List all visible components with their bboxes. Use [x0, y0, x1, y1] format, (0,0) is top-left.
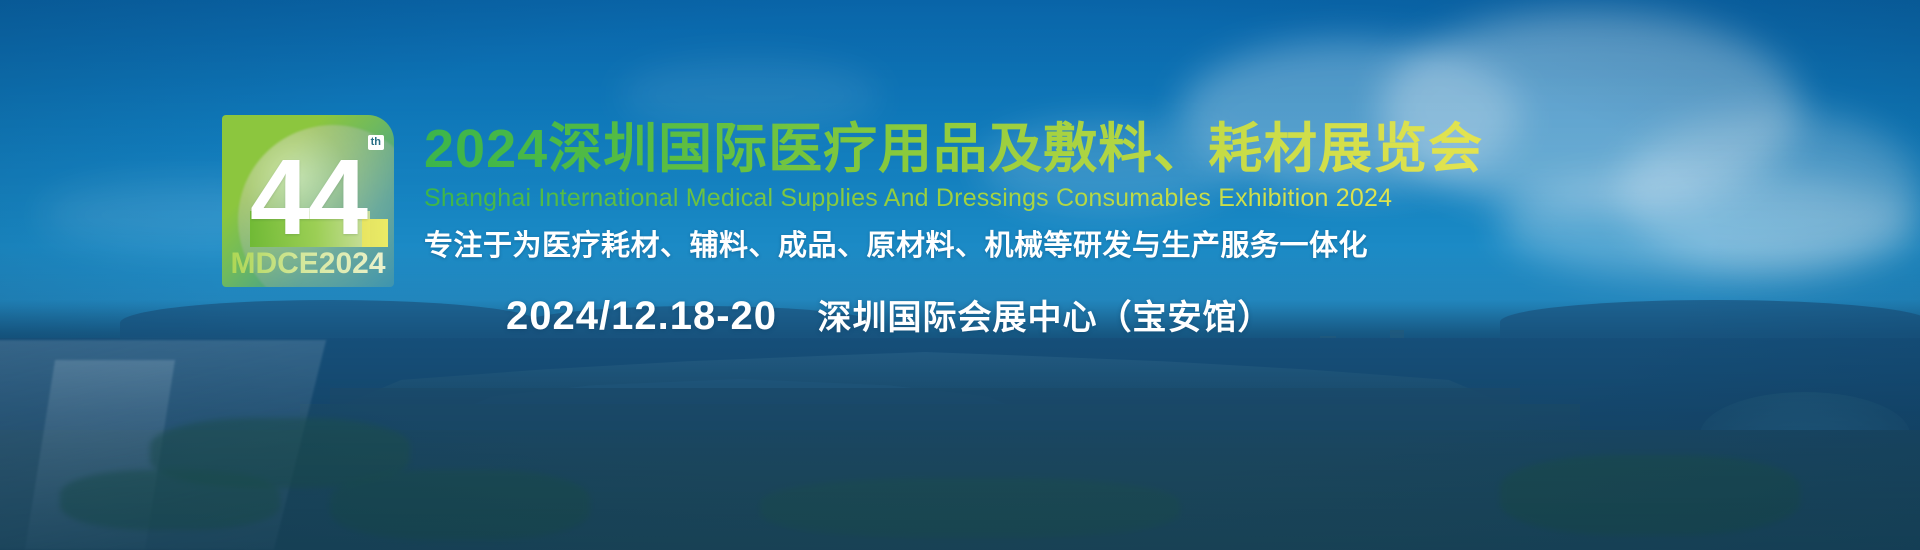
event-logo: 44 th MDCE2024 [222, 115, 394, 287]
event-date: 2024/12.18-20 [506, 294, 777, 338]
event-title-english: Shanghai International Medical Supplies … [424, 184, 1904, 213]
logo-wordmark: MDCE2024 [222, 249, 394, 279]
event-banner: 44 th MDCE2024 2024深圳国际医疗用品及敷料、耗材展览会 Sha… [0, 0, 1920, 550]
event-date-venue: 2024/12.18-20 深圳国际会展中心（宝安馆） [506, 290, 1904, 339]
event-title-chinese: 2024深圳国际医疗用品及敷料、耗材展览会 [424, 120, 1904, 178]
event-tagline: 专注于为医疗耗材、辅料、成品、原材料、机械等研发与生产服务一体化 [424, 229, 1904, 264]
logo-ordinal-suffix: th [368, 135, 384, 150]
event-venue: 深圳国际会展中心（宝安馆） [817, 299, 1272, 337]
logo-edition-number: 44 [222, 143, 394, 251]
banner-text-block: 2024深圳国际医疗用品及敷料、耗材展览会 Shanghai Internati… [424, 120, 1904, 339]
